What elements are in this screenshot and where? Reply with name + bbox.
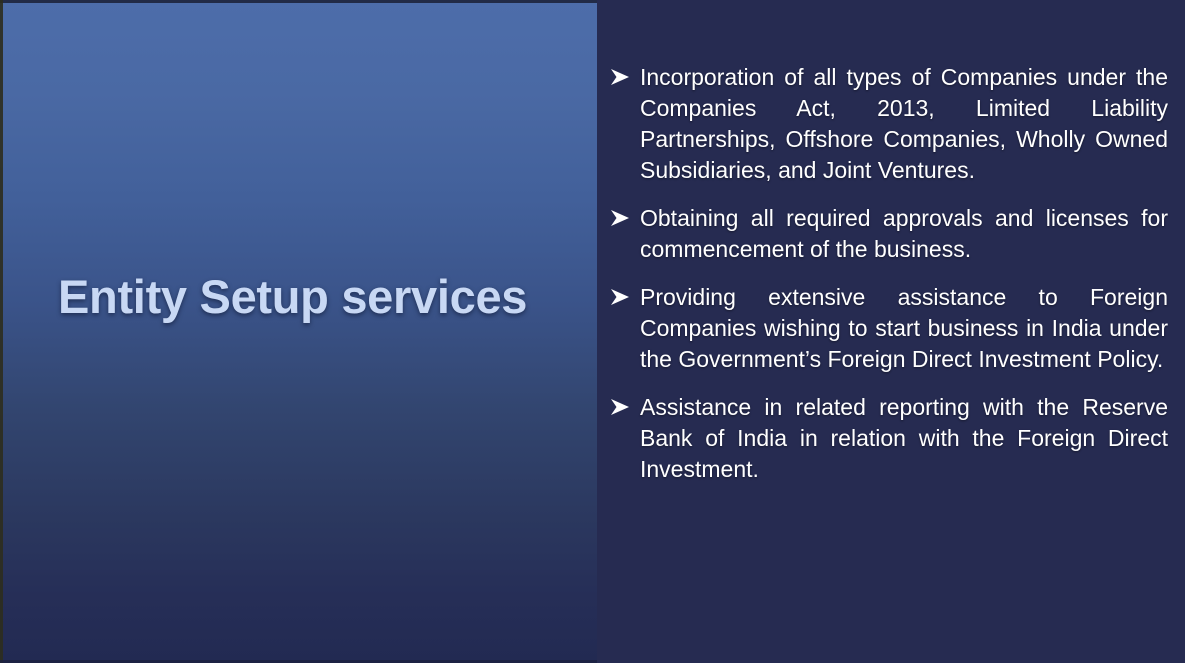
list-item: Obtaining all required approvals and lic… [597, 203, 1168, 265]
panel-top-edge [0, 0, 597, 3]
arrowhead-bullet-icon [607, 395, 633, 419]
arrowhead-bullet-icon [607, 65, 633, 89]
list-item: Providing extensive assistance to Foreig… [597, 282, 1168, 375]
list-item: Assistance in related reporting with the… [597, 392, 1168, 485]
title-block: Entity Setup services [58, 268, 528, 327]
list-item-text: Providing extensive assistance to Foreig… [640, 284, 1168, 372]
list-item-text: Assistance in related reporting with the… [640, 394, 1168, 482]
list-item-text: Obtaining all required approvals and lic… [640, 205, 1168, 262]
list-item-text: Incorporation of all types of Companies … [640, 64, 1168, 183]
bullet-list: Incorporation of all types of Companies … [597, 62, 1168, 485]
content-panel: Incorporation of all types of Companies … [597, 0, 1185, 663]
arrowhead-bullet-icon [607, 285, 633, 309]
panel-left-edge [0, 0, 3, 663]
arrowhead-bullet-icon [607, 206, 633, 230]
list-item: Incorporation of all types of Companies … [597, 62, 1168, 186]
slide-title: Entity Setup services [58, 268, 528, 327]
slide: Entity Setup services Incorporation of a… [0, 0, 1185, 663]
title-panel: Entity Setup services [0, 0, 597, 663]
